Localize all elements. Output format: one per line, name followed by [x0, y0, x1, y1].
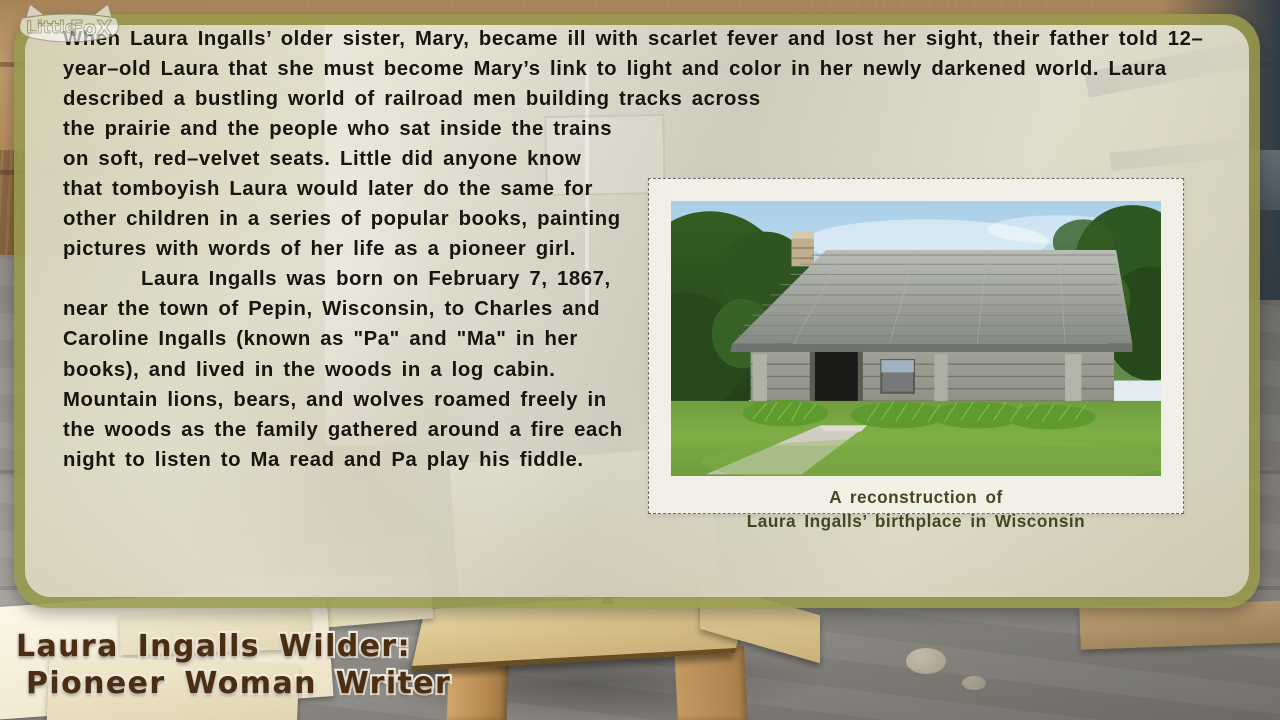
floor-speck [906, 648, 946, 674]
slide-stage: Little FoX When Laura Ingalls’ older sis… [0, 0, 1280, 720]
slide-title-line-2: Pioneer Woman Writer [16, 665, 451, 702]
figure-cabin: A reconstruction of Laura Ingalls’ birth… [648, 178, 1184, 514]
slide-title-line-1: Laura Ingalls Wilder: [16, 628, 451, 665]
caption-line-1: A reconstruction of [671, 485, 1161, 509]
slide-title: Laura Ingalls Wilder: Pioneer Woman Writ… [16, 628, 451, 702]
svg-text:FoX: FoX [70, 16, 113, 40]
stool-leg [674, 646, 748, 720]
caption-line-2: Laura Ingalls’ birthplace in Wisconsin [671, 509, 1161, 533]
figure-caption: A reconstruction of Laura Ingalls’ birth… [671, 485, 1161, 533]
paragraph-2: Laura Ingalls was born on February 7, 18… [63, 264, 623, 474]
svg-text:Little: Little [26, 18, 76, 38]
paragraph-1-head: When Laura Ingalls’ older sister, Mary, … [63, 24, 1213, 114]
floor-speck [962, 676, 986, 690]
fox-head-logo: Little FoX [4, 2, 164, 42]
paragraph-1-tail: the prairie and the people who sat insid… [63, 114, 623, 264]
log-cabin-photo [671, 201, 1161, 476]
